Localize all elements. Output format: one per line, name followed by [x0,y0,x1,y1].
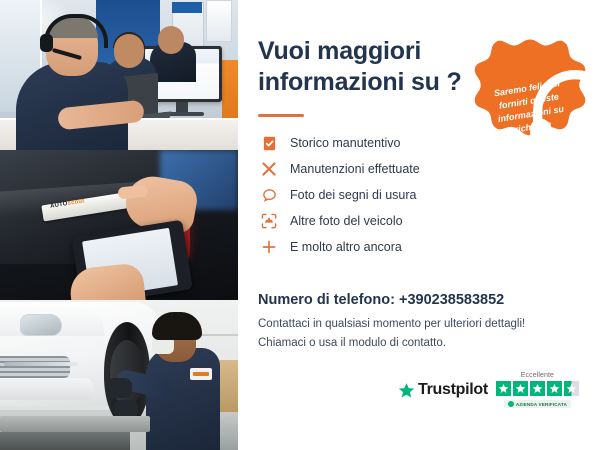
verified-label: AZIENDA VERIFICATA [516,402,567,407]
headlight-decor [20,314,62,336]
star-half [564,381,579,396]
star-filled [530,381,545,396]
feature-label: Foto dei segni di usura [290,188,416,202]
phone-number-line[interactable]: Numero di telefono: +390238583852 [258,292,504,308]
poster-secondary-decor [206,0,232,42]
tools-icon [258,158,280,180]
contact-line-2: Chiamaci o usa il modulo di contatto. [258,337,446,349]
grille-decor [0,356,70,378]
screen-line [90,241,152,254]
headset-icon [519,56,541,78]
person-two-head-decor [114,34,144,68]
poster-title-decor [172,2,202,13]
person-three-head-decor [158,26,184,54]
lift-base-decor [0,432,130,450]
rating-label: Eccellente [521,372,554,379]
photo-column: AUTOscout [0,0,238,450]
photo-call-centre [0,0,238,150]
feature-item-molto-altro: E molto altro ancora [258,234,508,260]
screen-line [91,251,141,262]
trustpilot-logo: Trustpilot [398,381,488,399]
mechanic-body-decor [146,348,220,450]
feature-label: Storico manutentivo [290,136,400,150]
speech-bubble-icon [258,184,280,206]
photo-inspection-sticker: AUTOscout [0,150,238,300]
chrome-trim-decor [4,362,78,366]
title-underline-rule [258,114,304,117]
feature-item-foto-segni-usura: Foto dei segni di usura [258,182,508,208]
bumper-decor [0,378,94,400]
mechanic-hair-decor [152,312,202,340]
photo-scan-icon [258,210,280,232]
photo-wheel-inspection [0,300,238,450]
uniform-patch-decor [190,368,212,380]
trustpilot-widget[interactable]: Trustpilot Eccellente [398,372,579,408]
page-title: Vuoi maggiori informazioni su ? [258,36,468,97]
content-panel: Vuoi maggiori informazioni su ? Saremo f… [238,0,600,450]
trustpilot-rating: Eccellente [496,372,579,408]
feature-item-altre-foto-veicolo: Altre foto del veicolo [258,208,508,234]
star-filled [547,381,562,396]
star-filled [496,381,511,396]
plus-icon [258,236,280,258]
feature-list: Storico manutentivo Manutenzioni effettu… [258,130,508,260]
star-filled [513,381,528,396]
headset-cup-decor [40,34,53,52]
feature-item-manutenzioni-effettuate: Manutenzioni effettuate [258,156,508,182]
feature-label: E molto altro ancora [290,240,402,254]
checklist-icon [258,132,280,154]
verified-business-badge: AZIENDA VERIFICATA [504,400,571,408]
contact-info-banner: AUTOscout [0,0,600,450]
feature-label: Altre foto del veicolo [290,214,403,228]
verified-check-icon [508,401,514,407]
lift-arm-decor [0,416,150,432]
feature-label: Manutenzioni effettuate [290,162,420,176]
contact-line-1: Contattaci in qualsiasi momento per ulte… [258,318,525,330]
feature-item-storico-manutentivo: Storico manutentivo [258,130,508,156]
trustpilot-wordmark: Trustpilot [418,381,488,399]
star-rating [496,381,579,396]
trustpilot-star-icon [398,382,415,399]
mechanic-glove-decor [106,378,132,398]
